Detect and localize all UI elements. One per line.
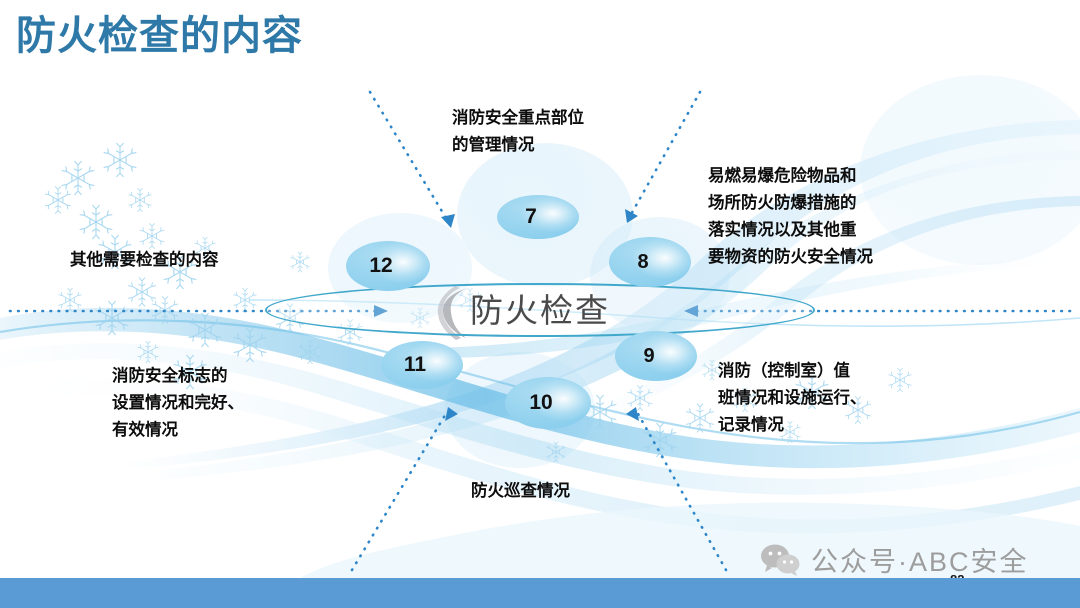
node-bubble-7[interactable]: 7 xyxy=(497,195,579,239)
callout-text-12: 其他需要检查的内容 xyxy=(70,247,300,274)
watermark-text: 公众号·ABC安全 xyxy=(811,540,1029,579)
node-bubble-11[interactable]: 11 xyxy=(381,341,463,389)
node-number-11: 11 xyxy=(404,353,426,377)
node-number-9: 9 xyxy=(643,345,654,368)
center-label: 防火检查 xyxy=(470,287,700,335)
slide-canvas: 防火检查的内容 防火检查 7 8 9 10 11 12 消防安全重点部位 的管理… xyxy=(0,0,1080,608)
callout-text-10: 防火巡查情况 xyxy=(471,478,711,505)
node-bubble-12[interactable]: 12 xyxy=(346,241,430,291)
node-bubble-8[interactable]: 8 xyxy=(609,237,691,287)
wechat-icon xyxy=(760,544,802,576)
callout-text-9: 消防（控制室）值 班情况和设施运行、 记录情况 xyxy=(718,358,958,439)
watermark: 公众号·ABC安全 xyxy=(760,540,1029,579)
node-number-7: 7 xyxy=(525,205,537,229)
node-bubble-9[interactable]: 9 xyxy=(615,331,697,381)
node-bubble-10[interactable]: 10 xyxy=(505,377,591,429)
node-number-8: 8 xyxy=(637,251,648,274)
page-title: 防火检查的内容 xyxy=(16,14,303,58)
node-number-12: 12 xyxy=(369,254,392,278)
bottom-bar xyxy=(0,578,1080,608)
callout-text-8: 易燃易爆危险物品和 场所防火防爆措施的 落实情况以及其他重 要物资的防火安全情况 xyxy=(708,163,958,271)
node-number-10: 10 xyxy=(529,391,552,415)
callout-text-11: 消防安全标志的 设置情况和完好、 有效情况 xyxy=(112,363,332,444)
callout-text-7: 消防安全重点部位 的管理情况 xyxy=(452,105,692,159)
